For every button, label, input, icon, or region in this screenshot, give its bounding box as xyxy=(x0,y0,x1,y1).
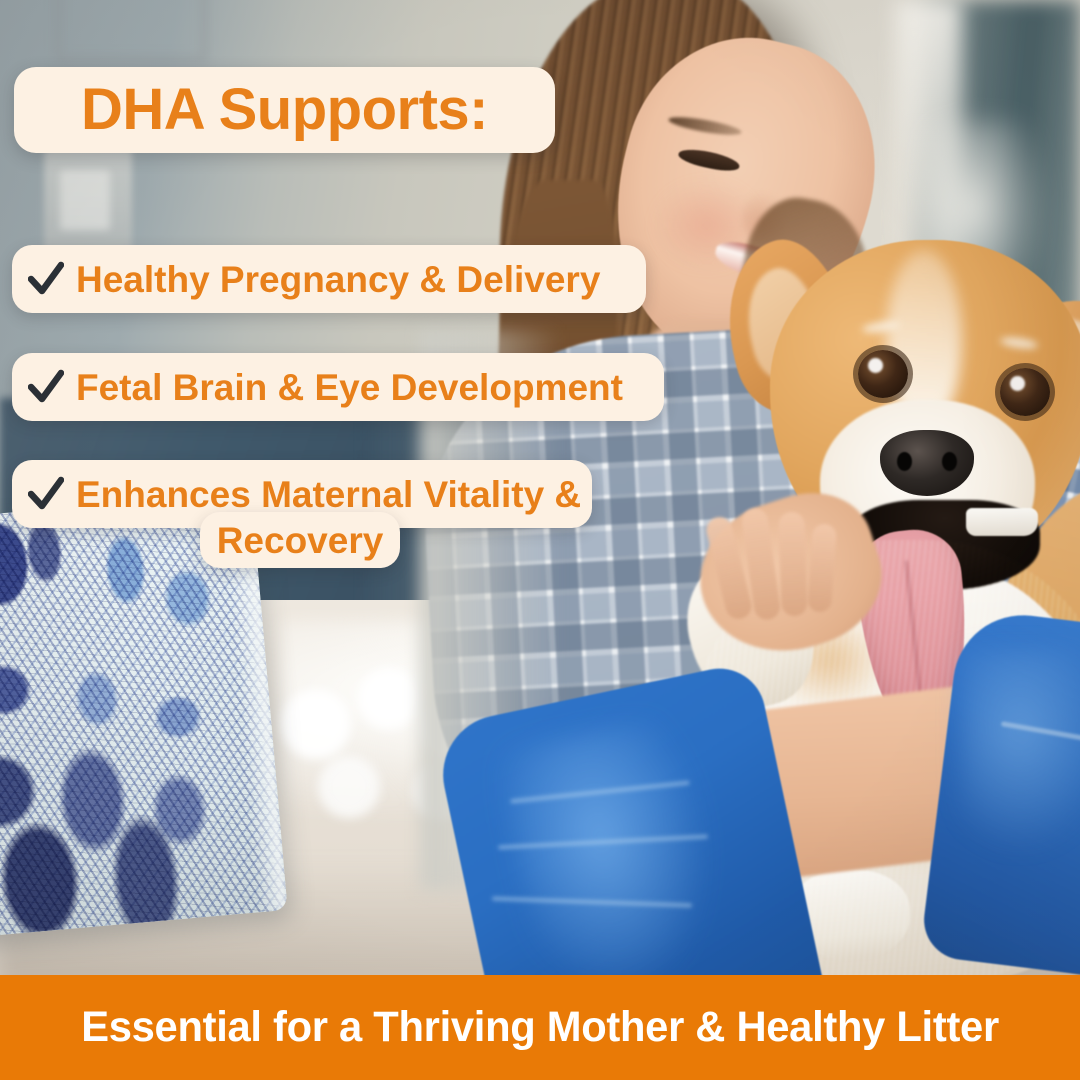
jeans-right-highlight xyxy=(960,650,1080,850)
check-icon xyxy=(28,259,64,299)
woman-finger-3 xyxy=(778,512,808,617)
bottom-banner: Essential for a Thriving Mother & Health… xyxy=(0,975,1080,1080)
headline-pill: DHA Supports: xyxy=(14,67,555,153)
benefit-label-3: Enhances Maternal Vitality & xyxy=(76,476,581,513)
page-title: DHA Supports: xyxy=(81,81,488,139)
check-icon xyxy=(28,367,64,407)
benefit-label-1: Healthy Pregnancy & Delivery xyxy=(76,261,600,298)
corgi-teeth xyxy=(966,508,1038,536)
corgi-eye-shine-right xyxy=(1010,376,1025,391)
corgi-nostril-left xyxy=(897,452,912,471)
corgi-eye-right xyxy=(1000,368,1050,416)
benefit-item-2: Fetal Brain & Eye Development xyxy=(12,353,664,421)
product-lifestyle-photo xyxy=(0,0,1080,1080)
corgi-eye-shine-left xyxy=(868,358,883,373)
benefit-label-3-line2: Recovery xyxy=(217,522,384,559)
check-icon xyxy=(28,474,64,514)
wall-frame-decor xyxy=(55,0,207,62)
wall-switch-inner xyxy=(60,170,110,230)
promo-poster: DHA Supports: Healthy Pregnancy & Delive… xyxy=(0,0,1080,1080)
benefit-item-3-line2: Recovery xyxy=(200,512,400,568)
corgi-eye-left xyxy=(858,350,908,398)
banner-tagline: Essential for a Thriving Mother & Health… xyxy=(81,1003,999,1052)
benefit-item-1: Healthy Pregnancy & Delivery xyxy=(12,245,646,313)
benefit-label-2: Fetal Brain & Eye Development xyxy=(76,369,623,406)
corgi-nostril-right xyxy=(942,452,957,471)
